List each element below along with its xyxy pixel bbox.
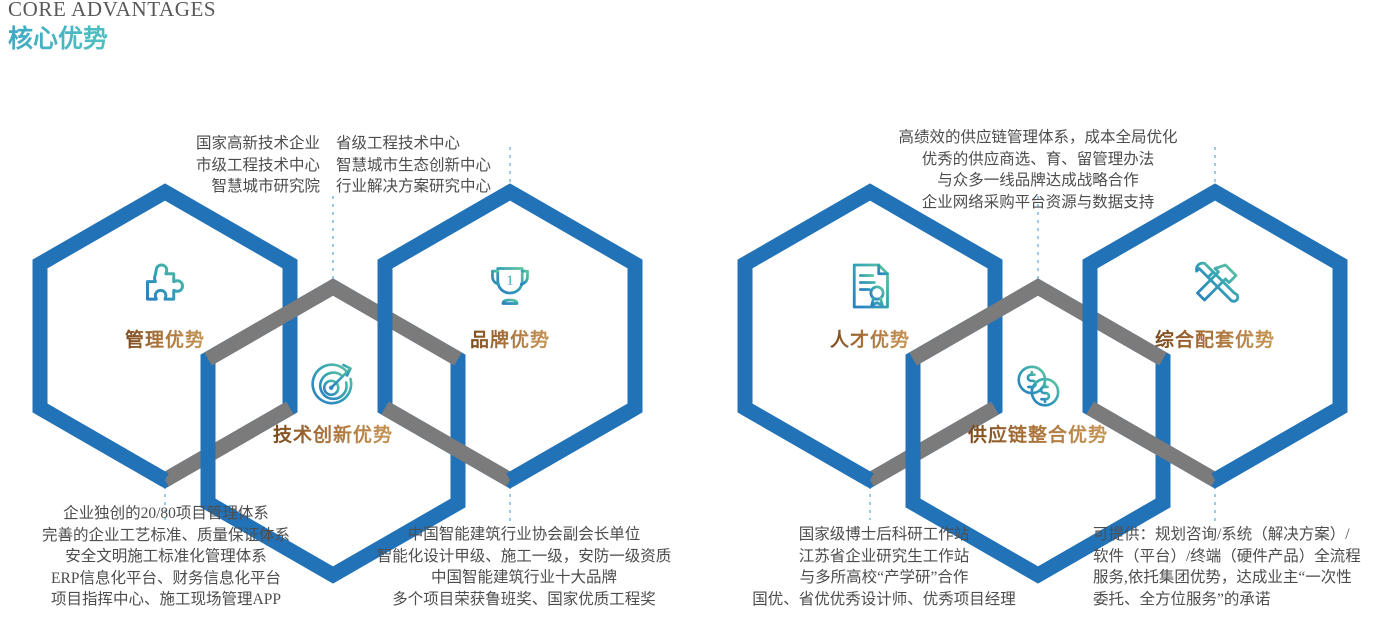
hex-label-management: 管理优势: [125, 325, 205, 352]
list-item: 中国智能建筑行业协会副会长单位: [377, 524, 672, 546]
list-item: 智慧城市生态创新中心: [336, 155, 491, 177]
page-title-chinese: 核心优势: [8, 22, 216, 56]
target-arrow-icon: [305, 358, 361, 414]
text-block-talent-bottom: 国家级博士后科研工作站 江苏省企业研究生工作站 与多所高校“产学研”合作 国优、…: [752, 524, 1016, 610]
management-top-left-column: 国家高新技术企业 市级工程技术中心 智慧城市研究院: [196, 133, 320, 198]
text-block-brand-bottom: 中国智能建筑行业协会副会长单位 智能化设计甲级、施工一级，安防一级资质 中国智能…: [377, 524, 672, 610]
management-top-right-column: 省级工程技术中心 智慧城市生态创新中心 行业解决方案研究中心: [336, 133, 491, 198]
list-item: 省级工程技术中心: [336, 133, 491, 155]
list-item: 企业网络采购平台资源与数据支持: [898, 192, 1177, 214]
list-item: 项目指挥中心、施工现场管理APP: [42, 589, 290, 611]
page-title: CORE ADVANTAGES 核心优势: [8, 0, 216, 56]
list-item: 智慧城市研究院: [196, 176, 320, 198]
list-item: 企业独创的20/80项目管理体系: [42, 503, 290, 525]
text-block-management-top: 国家高新技术企业 市级工程技术中心 智慧城市研究院 省级工程技术中心 智慧城市生…: [196, 133, 491, 198]
list-item: 国家高新技术企业: [196, 133, 320, 155]
list-item: 完善的企业工艺标准、质量保证体系: [42, 525, 290, 547]
text-block-tech-bottom: 企业独创的20/80项目管理体系 完善的企业工艺标准、质量保证体系 安全文明施工…: [42, 503, 290, 611]
coins-icon: [1010, 358, 1066, 414]
list-item: 多个项目荣获鲁班奖、国家优质工程奖: [377, 589, 672, 611]
page-title-english: CORE ADVANTAGES: [8, 0, 216, 22]
list-item: 安全文明施工标准化管理体系: [42, 546, 290, 568]
hex-label-talent: 人才优势: [830, 325, 910, 352]
list-item: 与多所高校“产学研”合作: [752, 567, 1016, 589]
tools-icon: [1187, 258, 1243, 314]
list-item: ERP信息化平台、财务信息化平台: [42, 568, 290, 590]
list-item: 国优、省优优秀设计师、优秀项目经理: [752, 589, 1016, 611]
hex-label-tech: 技术创新优势: [273, 420, 393, 447]
svg-text:1: 1: [507, 273, 514, 288]
text-block-support-bottom: 可提供：规划咨询/系统（解决方案）/软件（平台）/终端（硬件产品）全流程服务,依…: [1093, 524, 1361, 610]
certificate-icon: [842, 258, 898, 314]
list-item: 行业解决方案研究中心: [336, 176, 491, 198]
list-item: 优秀的供应商选、育、留管理办法: [898, 149, 1177, 171]
list-item: 与众多一线品牌达成战略合作: [898, 170, 1177, 192]
list-item: 国家级博士后科研工作站: [752, 524, 1016, 546]
trophy-icon: 1: [482, 258, 538, 314]
list-item: 中国智能建筑行业十大品牌: [377, 567, 672, 589]
hex-label-brand: 品牌优势: [470, 325, 550, 352]
list-item: 智能化设计甲级、施工一级，安防一级资质: [377, 546, 672, 568]
hex-label-supplychain: 供应链整合优势: [968, 420, 1108, 447]
puzzle-piece-icon: [137, 258, 193, 314]
hex-label-support: 综合配套优势: [1155, 325, 1275, 352]
list-item: 江苏省企业研究生工作站: [752, 546, 1016, 568]
text-block-supplychain-top: 高绩效的供应链管理体系，成本全局优化 优秀的供应商选、育、留管理办法 与众多一线…: [898, 127, 1177, 213]
list-item: 市级工程技术中心: [196, 155, 320, 177]
list-item: 高绩效的供应链管理体系，成本全局优化: [898, 127, 1177, 149]
